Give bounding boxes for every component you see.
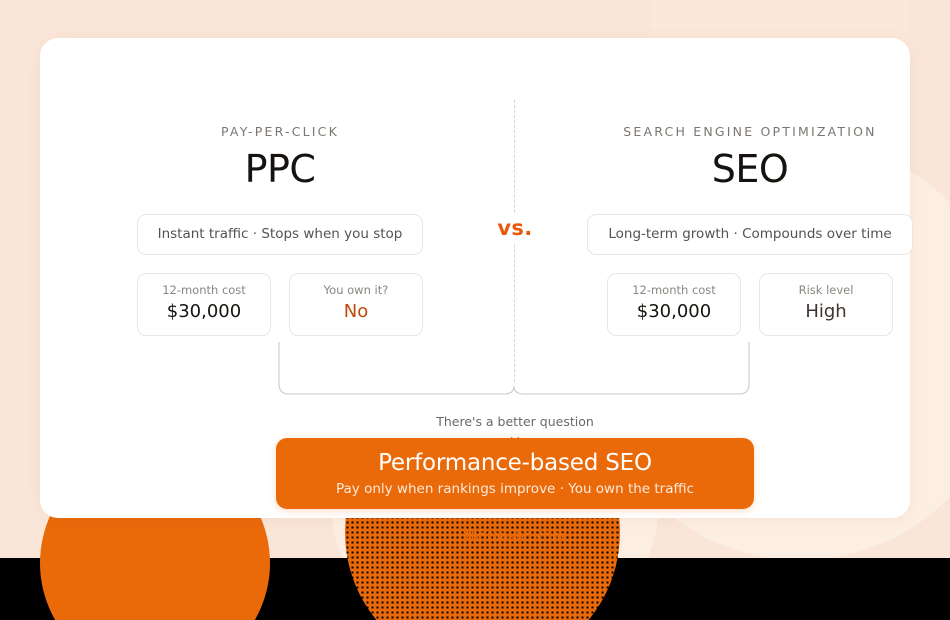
seo-tagline: Long-term growth · Compounds over time <box>587 214 912 255</box>
ppc-metric-ownership-label: You own it? <box>296 283 416 298</box>
cta-title: Performance-based SEO <box>378 449 652 478</box>
seo-metric-cost-label: 12-month cost <box>614 283 734 298</box>
column-ppc: PAY-PER-CLICK PPC Instant traffic · Stop… <box>80 124 480 336</box>
footer-url[interactable]: therankhq.com <box>315 528 715 546</box>
connector-arrow-icon <box>511 429 519 436</box>
ppc-headline: PPC <box>80 146 480 192</box>
cta-banner[interactable]: Performance-based SEO Pay only when rank… <box>276 438 754 509</box>
content-card: vs. PAY-PER-CLICK PPC Instant traffic · … <box>40 38 910 518</box>
ppc-tagline: Instant traffic · Stops when you stop <box>137 214 424 255</box>
seo-metric-cost: 12-month cost $30,000 <box>607 273 741 336</box>
ppc-metric-cost-label: 12-month cost <box>144 283 264 298</box>
seo-metric-cost-value: $30,000 <box>614 300 734 324</box>
comparison-graphic: vs. PAY-PER-CLICK PPC Instant traffic · … <box>0 0 950 620</box>
ppc-metric-ownership: You own it? No <box>289 273 423 336</box>
decorative-orange-circle-lower <box>40 558 270 620</box>
seo-metric-risk: Risk level High <box>759 273 893 336</box>
vs-label: vs. <box>489 213 541 243</box>
ppc-metrics: 12-month cost $30,000 You own it? No <box>80 273 480 336</box>
ppc-eyebrow: PAY-PER-CLICK <box>80 124 480 140</box>
cta-subtitle: Pay only when rankings improve · You own… <box>336 480 694 498</box>
bracket-connector-icon <box>278 342 750 395</box>
bracket-connector <box>278 342 750 395</box>
column-seo: SEARCH ENGINE OPTIMIZATION SEO Long-term… <box>550 124 950 336</box>
seo-eyebrow: SEARCH ENGINE OPTIMIZATION <box>550 124 950 140</box>
seo-metrics: 12-month cost $30,000 Risk level High <box>550 273 950 336</box>
ppc-tagline-wrap: Instant traffic · Stops when you stop <box>80 214 480 255</box>
seo-tagline-wrap: Long-term growth · Compounds over time <box>550 214 950 255</box>
seo-metric-risk-value: High <box>766 300 886 324</box>
seo-metric-risk-label: Risk level <box>766 283 886 298</box>
seo-headline: SEO <box>550 146 950 192</box>
decorative-halftone-circle-lower <box>345 558 620 620</box>
ppc-metric-ownership-value: No <box>296 300 416 324</box>
connector-caption: There's a better question <box>315 413 715 430</box>
ppc-metric-cost: 12-month cost $30,000 <box>137 273 271 336</box>
bottom-band <box>0 558 950 620</box>
ppc-metric-cost-value: $30,000 <box>144 300 264 324</box>
